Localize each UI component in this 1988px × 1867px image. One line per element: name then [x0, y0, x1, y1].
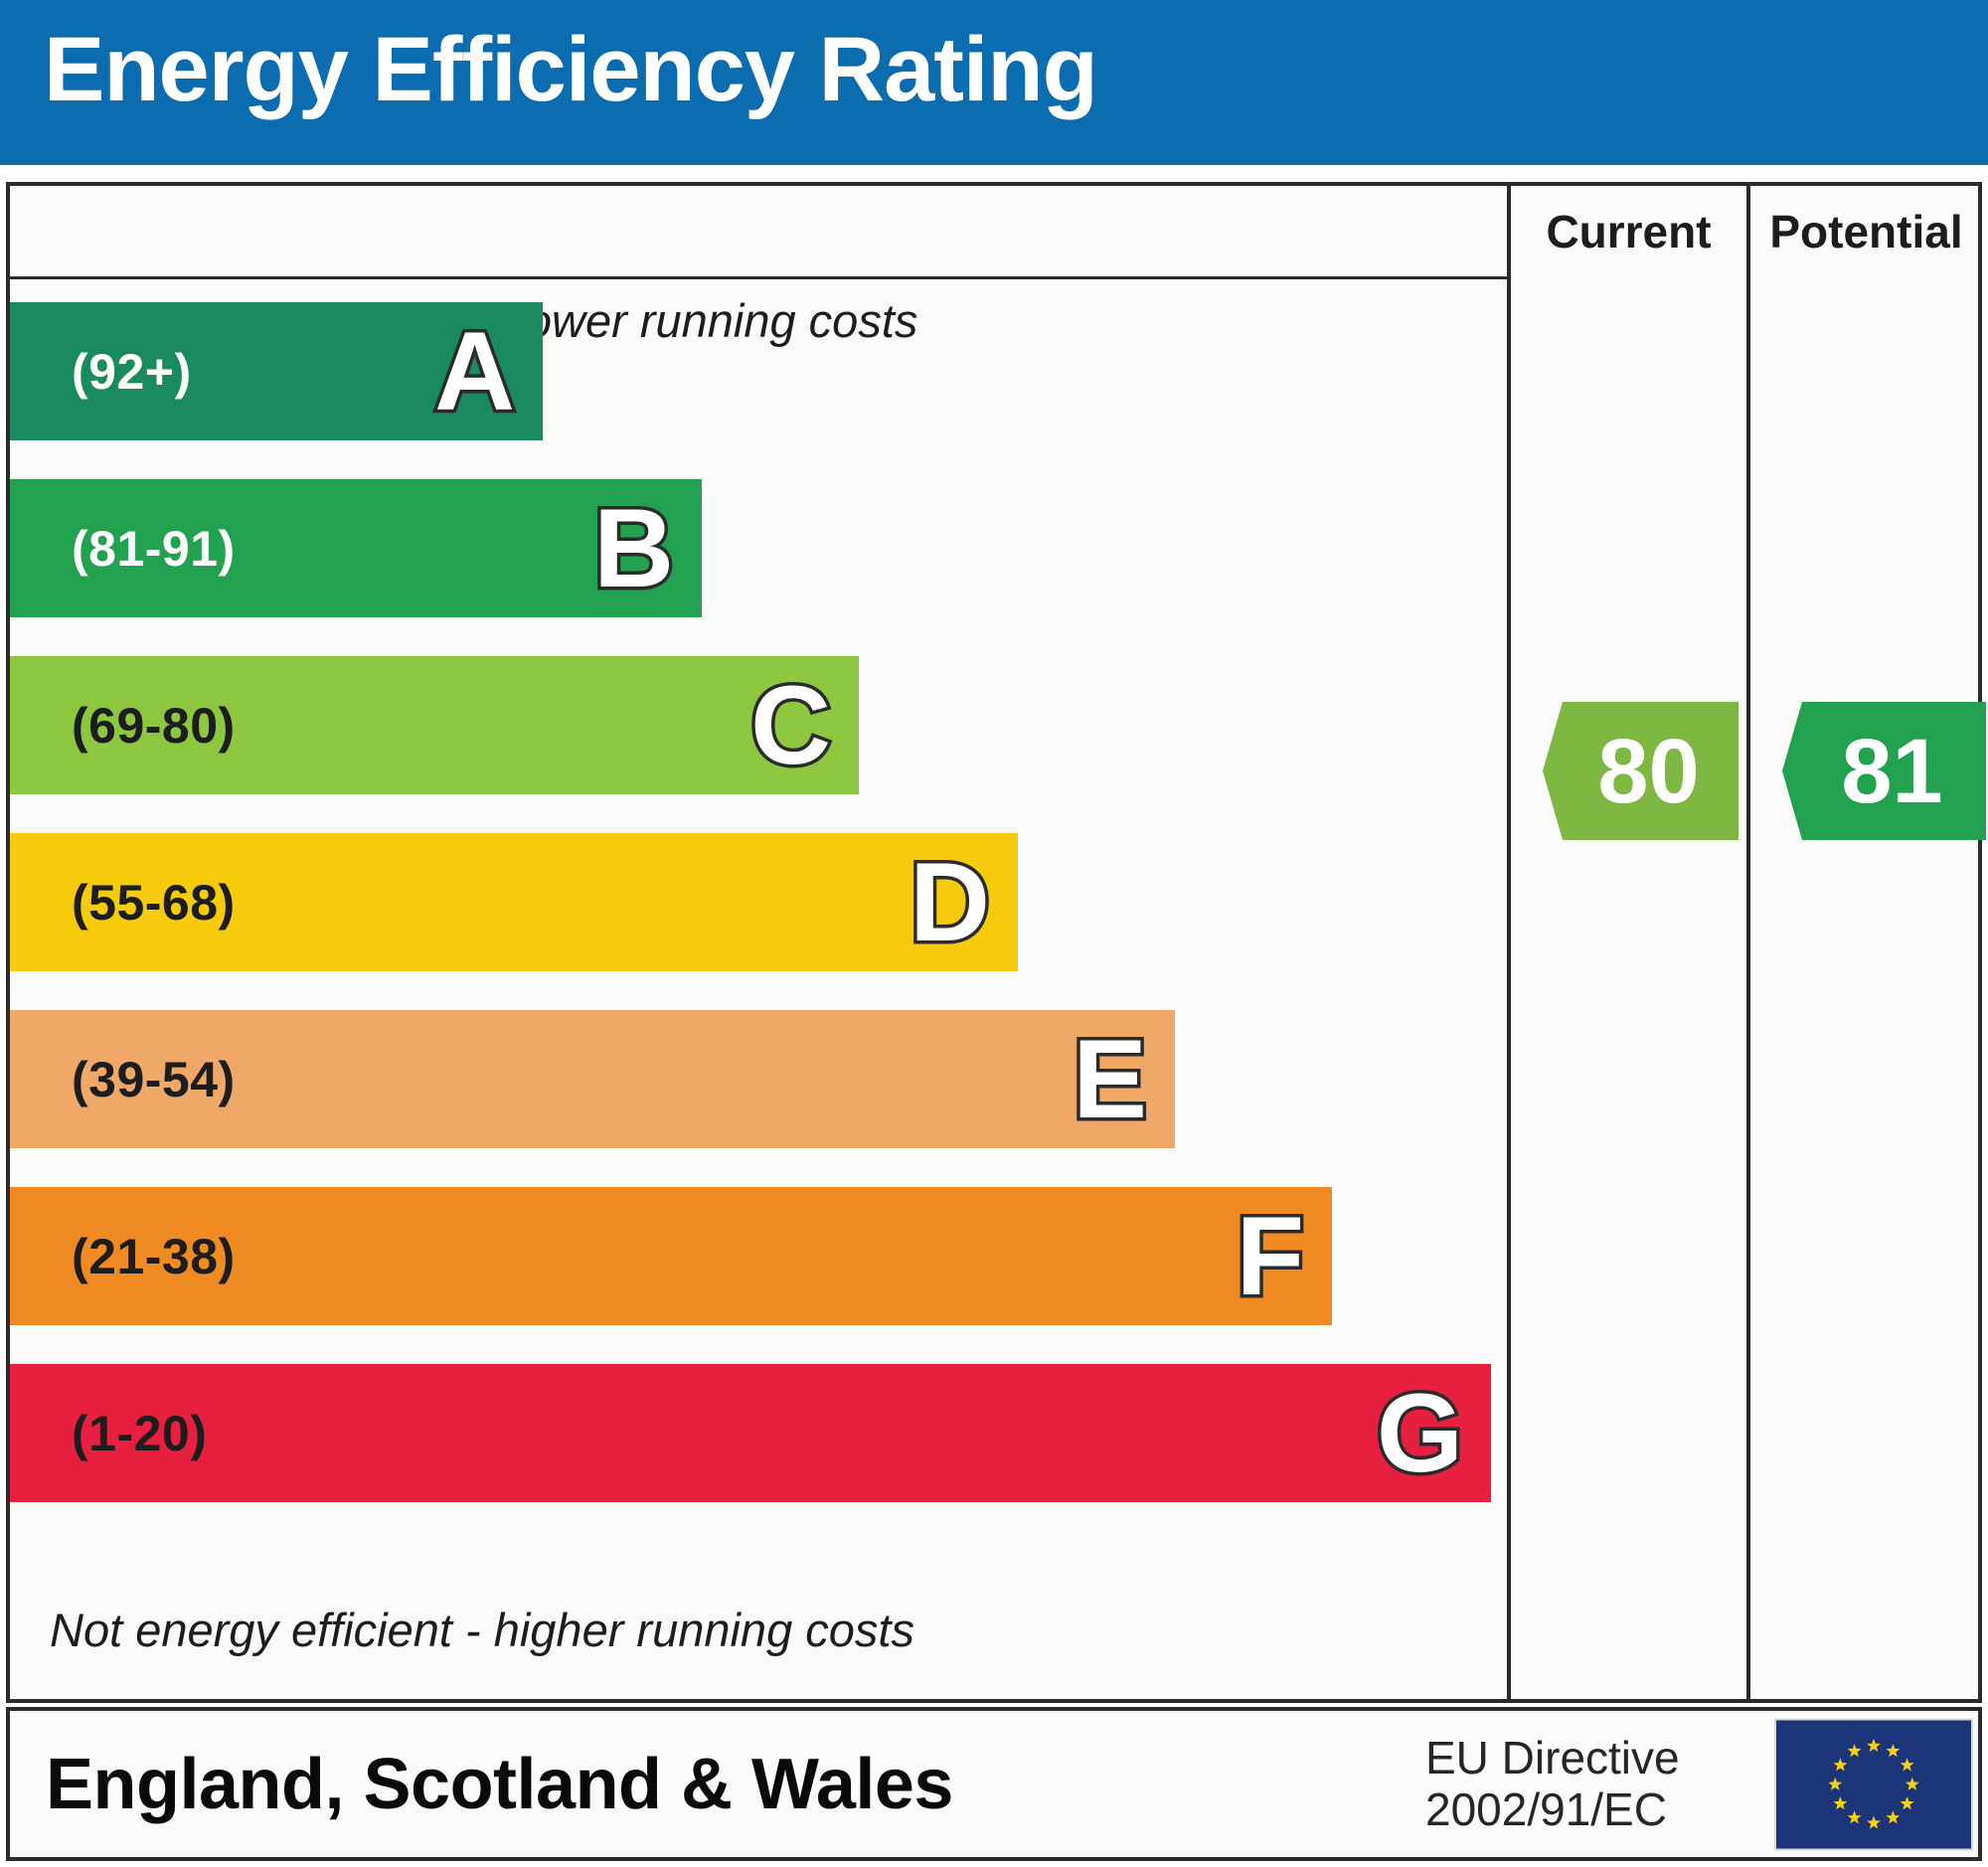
- rating-band-f: (21-38)F: [10, 1187, 1332, 1325]
- chart-title-bar: Energy Efficiency Rating: [0, 0, 1988, 165]
- column-header-potential: Potential: [1750, 200, 1982, 263]
- chart-footer: England, Scotland & Wales EU Directive 2…: [6, 1707, 1982, 1861]
- band-letter: G: [1377, 1378, 1463, 1489]
- band-letter: C: [750, 670, 831, 781]
- rating-band-g: (1-20)G: [10, 1364, 1491, 1502]
- energy-efficiency-rating-chart: Energy Efficiency Rating Current Potenti…: [0, 0, 1988, 1867]
- band-letter: D: [910, 847, 990, 958]
- current-rating-value: 80: [1597, 726, 1699, 817]
- band-range-label: (39-54): [72, 1051, 236, 1108]
- band-letter: B: [593, 493, 674, 604]
- rating-band-d: (55-68)D: [10, 833, 1018, 971]
- page-title: Energy Efficiency Rating: [44, 24, 1097, 115]
- current-column-divider: [1507, 186, 1511, 1699]
- rating-band-c: (69-80)C: [10, 656, 859, 794]
- rating-band-e: (39-54)E: [10, 1010, 1175, 1148]
- eu-flag-icon: [1774, 1718, 1973, 1850]
- band-letter: F: [1237, 1201, 1304, 1312]
- region-label: England, Scotland & Wales: [46, 1744, 953, 1825]
- band-range-label: (21-38): [72, 1228, 236, 1285]
- current-rating-badge: 80: [1543, 702, 1739, 840]
- eu-directive-line2: 2002/91/EC: [1425, 1784, 1680, 1837]
- rating-band-b: (81-91)B: [10, 479, 702, 617]
- rating-bands: (92+)A(81-91)B(69-80)C(55-68)D(39-54)E(2…: [10, 186, 1507, 1699]
- eu-directive-label: EU Directive 2002/91/EC: [1425, 1732, 1680, 1837]
- rating-band-a: (92+)A: [10, 302, 543, 440]
- band-range-label: (1-20): [72, 1405, 207, 1462]
- eu-directive-line1: EU Directive: [1425, 1732, 1680, 1784]
- rating-table: Current Potential Very energy efficient …: [6, 182, 1982, 1703]
- band-range-label: (81-91): [72, 520, 236, 578]
- band-range-label: (92+): [72, 343, 192, 401]
- column-header-current: Current: [1511, 200, 1746, 263]
- band-letter: A: [434, 316, 515, 427]
- potential-column-divider: [1746, 186, 1750, 1699]
- band-range-label: (69-80): [72, 697, 236, 755]
- band-range-label: (55-68): [72, 874, 236, 932]
- potential-rating-badge: 81: [1782, 702, 1986, 840]
- band-letter: E: [1073, 1024, 1147, 1135]
- potential-rating-value: 81: [1841, 726, 1942, 817]
